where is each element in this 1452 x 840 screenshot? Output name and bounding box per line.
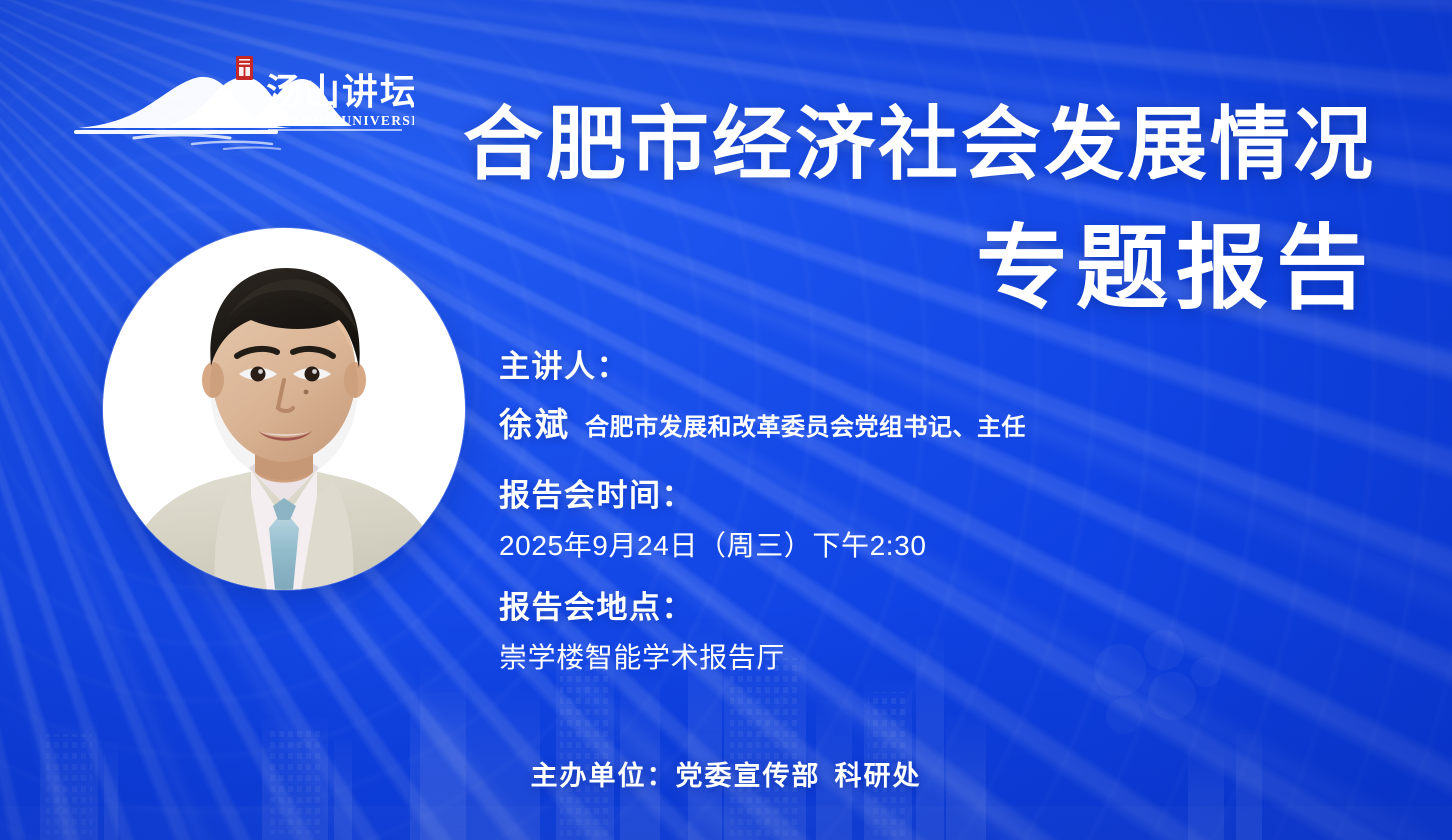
headline-line-1: 合肥市经济社会发展情况 (430, 104, 1376, 186)
speaker-title: 合肥市发展和改革委员会党组书记、主任 (585, 407, 1026, 442)
speaker-portrait (103, 228, 465, 590)
organizer-label: 主办单位： (531, 761, 676, 791)
time-label: 报告会时间： (499, 474, 1259, 518)
poster-canvas: 汤山讲坛 CHAOHU UNIVERSITY (0, 0, 1452, 840)
organizer-footer: 主办单位：党委宣传部科研处 (0, 754, 1452, 793)
page-title: 合肥市经济社会发展情况 专题报告 (430, 104, 1376, 317)
logo-cn-text: 汤山讲坛 (266, 72, 414, 113)
portrait-illustration (103, 228, 465, 590)
speaker-label: 主讲人： (499, 345, 1259, 389)
place-value: 崇学楼智能学术报告厅 (499, 640, 1259, 676)
logo-en-text: CHAOHU UNIVERSITY (268, 113, 414, 128)
event-details: 主讲人： 徐斌 合肥市发展和改革委员会党组书记、主任 报告会时间： 2025年9… (499, 345, 1259, 677)
red-seal-icon (236, 56, 253, 80)
brand-logo: 汤山讲坛 CHAOHU UNIVERSITY (72, 52, 414, 152)
speaker-row: 徐斌 合肥市发展和改革委员会党组书记、主任 (499, 398, 1259, 446)
organizer-secondary: 科研处 (835, 761, 922, 791)
place-label: 报告会地点： (499, 586, 1259, 630)
organizer-primary: 党委宣传部 (676, 761, 821, 791)
headline-line-2: 专题报告 (430, 222, 1376, 317)
speaker-name: 徐斌 (499, 398, 571, 446)
time-value: 2025年9月24日（周三）下午2:30 (499, 528, 1259, 564)
